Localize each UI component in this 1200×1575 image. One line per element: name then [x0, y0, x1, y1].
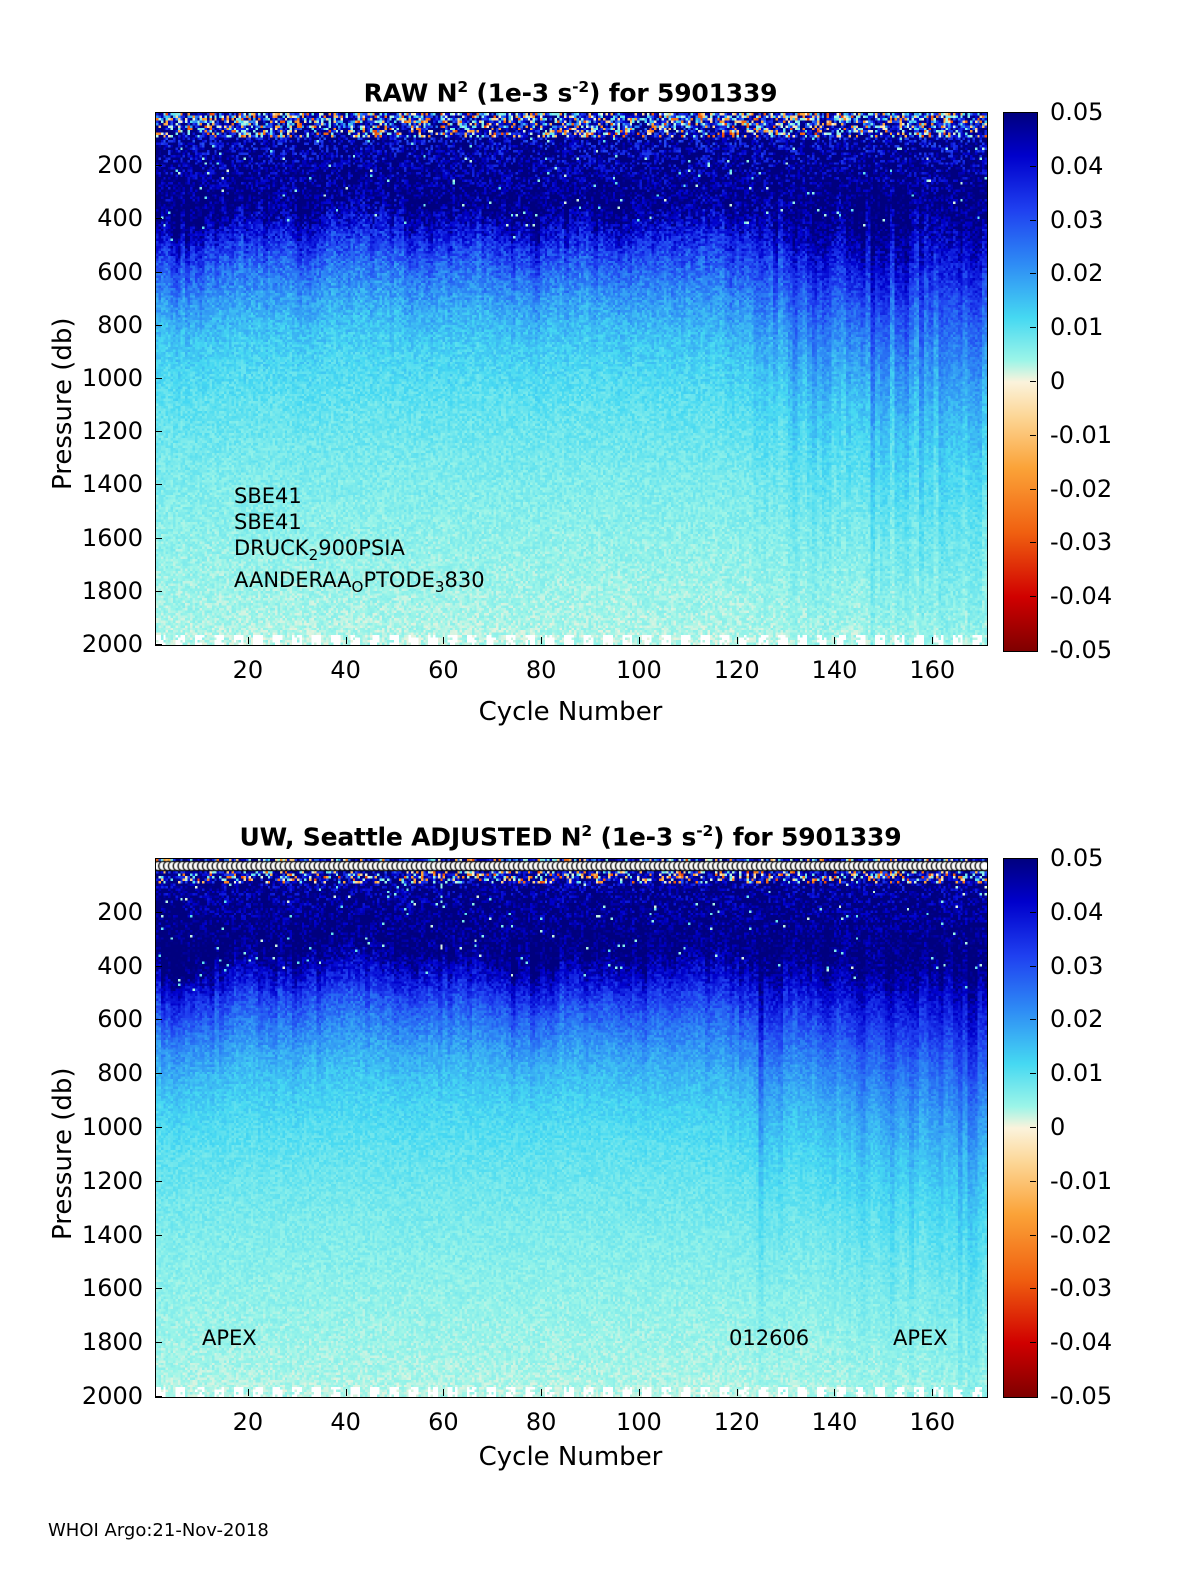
colorbar-tick-label: -0.02: [1050, 475, 1112, 503]
colorbar-tick-label: -0.03: [1050, 1274, 1112, 1302]
colorbar-adjusted-gradient: [1004, 859, 1037, 1397]
y-tick-mark: [155, 644, 162, 645]
colorbar-tick-label: 0.05: [1050, 844, 1103, 872]
footer-credit: WHOI Argo:21-Nov-2018: [48, 1520, 269, 1541]
y-tick-label: 2000: [0, 1382, 143, 1410]
colorbar-tick-label: -0.01: [1050, 421, 1112, 449]
annotation-sensor-2: SBE41: [234, 512, 302, 533]
x-tick-mark: [248, 1389, 249, 1396]
y-tick-mark: [155, 1181, 162, 1182]
y-tick-label: 1800: [0, 1328, 143, 1356]
y-tick-label: 200: [0, 151, 143, 179]
colorbar-tick-label: 0.03: [1050, 206, 1103, 234]
colorbar-tick-label: 0.01: [1050, 1059, 1103, 1087]
y-tick-label: 400: [0, 952, 143, 980]
colorbar-tick-mark: [1030, 1342, 1036, 1343]
y-tick-label: 1000: [0, 1113, 143, 1141]
x-tick-label: 120: [714, 1408, 760, 1436]
y-tick-mark: [155, 1127, 162, 1128]
y-tick-label: 600: [0, 1005, 143, 1033]
x-tick-mark: [346, 637, 347, 644]
colorbar-tick-mark: [1030, 1235, 1036, 1236]
y-tick-mark: [155, 1288, 162, 1289]
x-tick-mark: [443, 1389, 444, 1396]
annotation-sensor-1: SBE41: [234, 486, 302, 507]
x-tick-mark: [346, 1389, 347, 1396]
colorbar-tick-mark: [1030, 912, 1036, 913]
colorbar-adjusted[interactable]: [1003, 858, 1038, 1398]
colorbar-raw-gradient: [1004, 113, 1037, 651]
y-tick-mark: [155, 538, 162, 539]
panel-raw-plot-area[interactable]: [155, 112, 988, 646]
x-tick-mark: [737, 1389, 738, 1396]
colorbar-tick-mark: [1030, 273, 1036, 274]
x-tick-label: 60: [428, 1408, 459, 1436]
colorbar-tick-label: 0.03: [1050, 952, 1103, 980]
colorbar-tick-label: 0.05: [1050, 98, 1103, 126]
colorbar-tick-mark: [1030, 327, 1036, 328]
x-tick-label: 80: [526, 1408, 557, 1436]
x-tick-label: 160: [909, 1408, 955, 1436]
x-tick-mark: [541, 1389, 542, 1396]
cycle-marker-row: [156, 859, 987, 1397]
y-tick-label: 1400: [0, 1221, 143, 1249]
y-tick-mark: [155, 431, 162, 432]
colorbar-tick-mark: [1030, 966, 1036, 967]
y-tick-mark: [155, 165, 162, 166]
y-tick-mark: [155, 484, 162, 485]
panel-adjusted-plot-area[interactable]: [155, 858, 988, 1398]
y-tick-mark: [155, 591, 162, 592]
annotation-float-type-right: APEX: [893, 1328, 948, 1349]
panel-raw-ylabel: Pressure (db): [48, 317, 78, 490]
x-tick-mark: [932, 1389, 933, 1396]
panel-raw-xlabel: Cycle Number: [155, 697, 986, 727]
x-tick-label: 160: [909, 656, 955, 684]
x-tick-label: 40: [330, 656, 361, 684]
annotation-sensor-3: DRUCK2900PSIA: [234, 538, 405, 563]
colorbar-tick-mark: [1030, 596, 1036, 597]
y-tick-label: 600: [0, 258, 143, 286]
panel-adjusted-xlabel: Cycle Number: [155, 1442, 986, 1472]
colorbar-tick-label: -0.01: [1050, 1167, 1112, 1195]
x-tick-label: 40: [330, 1408, 361, 1436]
colorbar-tick-label: -0.05: [1050, 1382, 1112, 1410]
x-tick-mark: [248, 637, 249, 644]
x-tick-mark: [932, 637, 933, 644]
annotation-float-serial: 012606: [729, 1328, 809, 1349]
y-tick-mark: [155, 966, 162, 967]
x-tick-label: 80: [526, 656, 557, 684]
colorbar-tick-label: 0.02: [1050, 259, 1103, 287]
x-tick-label: 100: [616, 1408, 662, 1436]
x-tick-mark: [737, 637, 738, 644]
colorbar-tick-label: 0: [1050, 367, 1065, 395]
y-tick-label: 800: [0, 1059, 143, 1087]
colorbar-tick-mark: [1030, 220, 1036, 221]
colorbar-tick-mark: [1030, 435, 1036, 436]
colorbar-tick-label: -0.04: [1050, 582, 1112, 610]
y-tick-label: 2000: [0, 630, 143, 658]
y-tick-label: 200: [0, 898, 143, 926]
x-tick-mark: [541, 637, 542, 644]
x-tick-label: 20: [233, 656, 264, 684]
colorbar-tick-mark: [1030, 1127, 1036, 1128]
y-tick-label: 1200: [0, 1167, 143, 1195]
colorbar-tick-label: 0.04: [1050, 898, 1103, 926]
colorbar-tick-mark: [1030, 1073, 1036, 1074]
y-tick-label: 1800: [0, 577, 143, 605]
x-tick-mark: [639, 637, 640, 644]
y-tick-label: 1400: [0, 470, 143, 498]
x-tick-label: 60: [428, 656, 459, 684]
y-tick-label: 400: [0, 204, 143, 232]
y-tick-mark: [155, 912, 162, 913]
colorbar-tick-label: -0.05: [1050, 636, 1112, 664]
y-tick-mark: [155, 272, 162, 273]
y-tick-mark: [155, 325, 162, 326]
y-tick-label: 1600: [0, 1274, 143, 1302]
x-tick-label: 140: [812, 1408, 858, 1436]
x-tick-mark: [639, 1389, 640, 1396]
colorbar-tick-mark: [1030, 166, 1036, 167]
colorbar-tick-label: -0.03: [1050, 528, 1112, 556]
y-tick-label: 1000: [0, 364, 143, 392]
heatmap-raw: [156, 113, 987, 645]
x-tick-label: 120: [714, 656, 760, 684]
colorbar-tick-mark: [1030, 1181, 1036, 1182]
x-tick-label: 140: [812, 656, 858, 684]
y-tick-label: 800: [0, 311, 143, 339]
y-tick-label: 1200: [0, 417, 143, 445]
colorbar-tick-mark: [1030, 1019, 1036, 1020]
y-tick-mark: [155, 1396, 162, 1397]
x-tick-label: 100: [616, 656, 662, 684]
y-tick-mark: [155, 378, 162, 379]
x-tick-label: 20: [233, 1408, 264, 1436]
annotation-sensor-4: AANDERAAOPTODE3830: [234, 570, 485, 595]
colorbar-raw[interactable]: [1003, 112, 1038, 652]
y-tick-mark: [155, 218, 162, 219]
y-tick-label: 1600: [0, 524, 143, 552]
colorbar-tick-label: 0.02: [1050, 1005, 1103, 1033]
colorbar-tick-mark: [1030, 542, 1036, 543]
colorbar-tick-mark: [1030, 381, 1036, 382]
panel-adjusted-title: UW, Seattle ADJUSTED N2 (1e-3 s-2) for 5…: [155, 822, 986, 851]
colorbar-tick-label: 0: [1050, 1113, 1065, 1141]
colorbar-tick-label: -0.02: [1050, 1221, 1112, 1249]
panel-raw-title: RAW N2 (1e-3 s-2) for 5901339: [155, 78, 986, 107]
y-tick-mark: [155, 1073, 162, 1074]
y-tick-mark: [155, 1342, 162, 1343]
colorbar-tick-mark: [1030, 1288, 1036, 1289]
panel-adjusted-ylabel: Pressure (db): [48, 1067, 78, 1240]
x-tick-mark: [834, 637, 835, 644]
colorbar-tick-label: -0.04: [1050, 1328, 1112, 1356]
y-tick-mark: [155, 1019, 162, 1020]
colorbar-tick-label: 0.04: [1050, 152, 1103, 180]
colorbar-tick-mark: [1030, 489, 1036, 490]
annotation-float-type-left: APEX: [202, 1328, 257, 1349]
colorbar-tick-label: 0.01: [1050, 313, 1103, 341]
argo-n2-figure: RAW N2 (1e-3 s-2) for 5901339 Pressure (…: [0, 0, 1200, 1575]
x-tick-mark: [443, 637, 444, 644]
x-tick-mark: [834, 1389, 835, 1396]
y-tick-mark: [155, 1235, 162, 1236]
